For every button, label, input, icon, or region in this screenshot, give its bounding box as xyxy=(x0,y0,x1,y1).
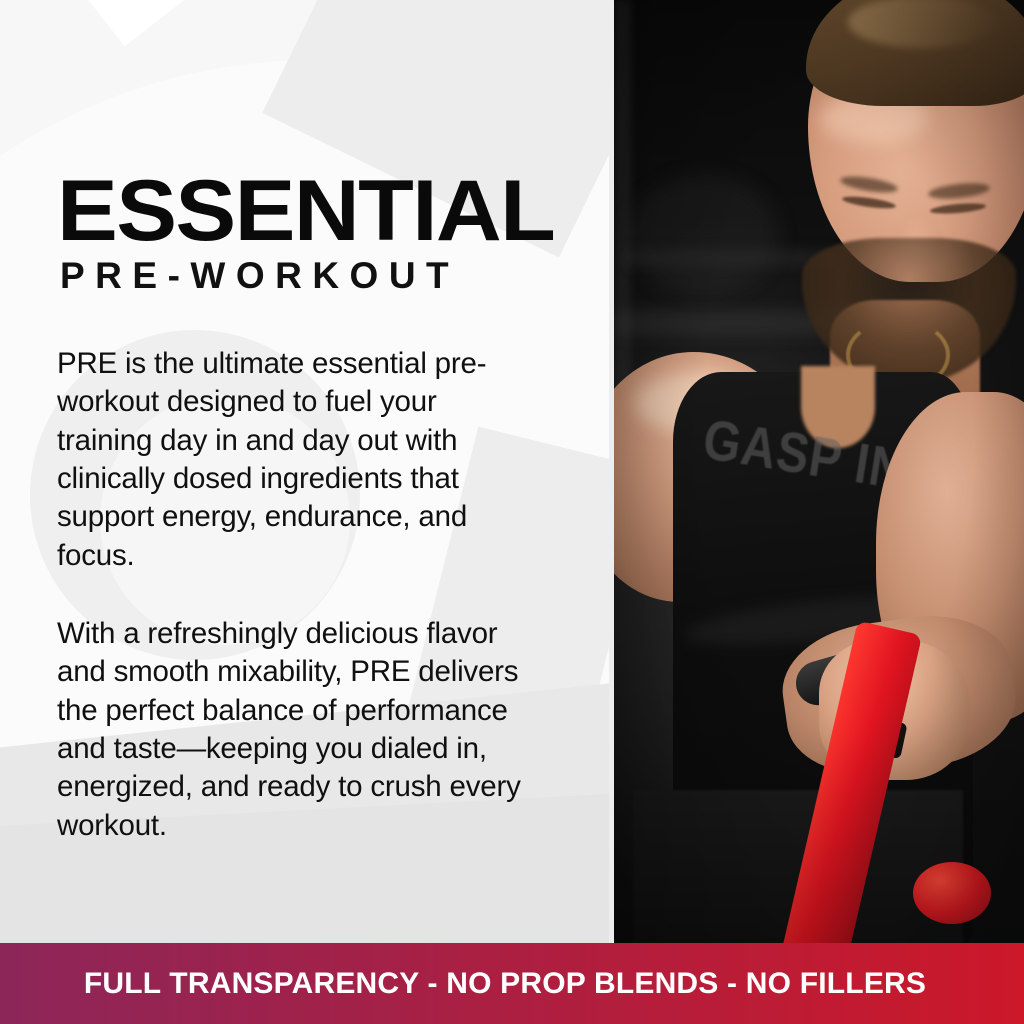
claims-banner-text: FULL TRANSPARENCY - NO PROP BLENDS - NO … xyxy=(84,967,926,1001)
page-subtitle: PRE-WORKOUT xyxy=(60,257,577,296)
gym-equipment-post xyxy=(615,0,631,420)
page-title: ESSENTIAL xyxy=(57,172,608,251)
claims-banner: FULL TRANSPARENCY - NO PROP BLENDS - NO … xyxy=(0,943,1024,1024)
description-paragraph-2: With a refreshingly delicious flavor and… xyxy=(57,615,537,845)
body-copy: PRE is the ultimate essential pre-workou… xyxy=(57,345,537,845)
athlete-photo: GASP INC. xyxy=(613,0,1024,943)
machine-red-knob xyxy=(913,862,991,924)
headline-block: ESSENTIAL PRE-WORKOUT xyxy=(57,172,577,296)
product-promo-poster: ESSENTIAL PRE-WORKOUT PRE is the ultimat… xyxy=(0,0,1024,1024)
gym-weight-plate xyxy=(629,175,779,295)
panel-divider xyxy=(609,0,614,943)
text-panel: ESSENTIAL PRE-WORKOUT PRE is the ultimat… xyxy=(0,0,613,943)
description-paragraph-1: PRE is the ultimate essential pre-workou… xyxy=(57,345,537,575)
panel-content: ESSENTIAL PRE-WORKOUT PRE is the ultimat… xyxy=(0,0,613,943)
